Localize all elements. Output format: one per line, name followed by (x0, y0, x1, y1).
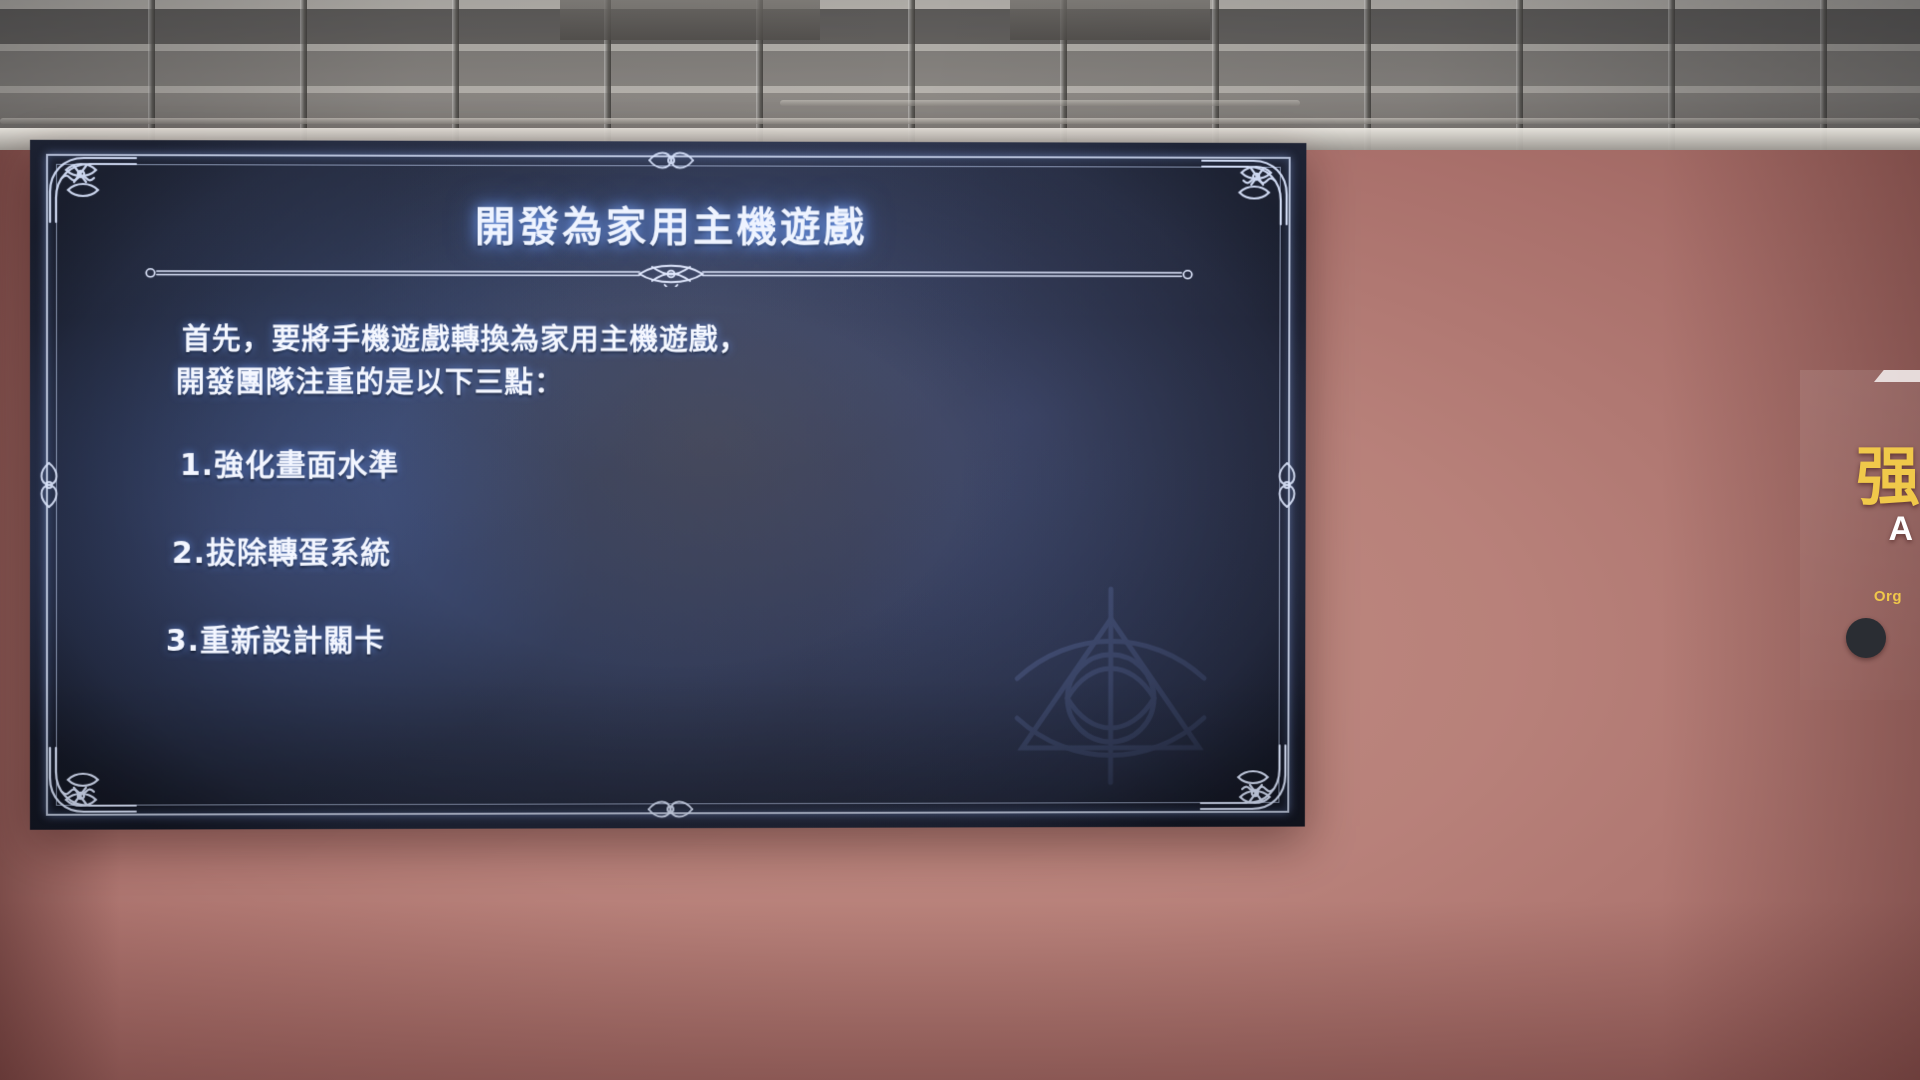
screenshot-root: 强 A Org (0, 0, 1920, 1080)
slide-point-2: 2.拔除轉蛋系統 (172, 528, 1188, 572)
intro-line-1: 首先，要將手機遊戲轉換為家用主機遊戲， (182, 318, 1178, 362)
slide-intro-paragraph: 首先，要將手機遊戲轉換為家用主機遊戲， 開發團隊注重的是以下三點： (182, 318, 1178, 404)
signage-triangle-icon (1874, 370, 1920, 382)
intro-line-2: 開發團隊注重的是以下三點： (176, 361, 1178, 404)
slide-title: 開發為家用主機遊戲 (30, 192, 1306, 254)
slide-points-list: 1.強化畫面水準 2.拔除轉蛋系統 3.重新設計關卡 (180, 440, 1188, 704)
slide-point-1: 1.強化畫面水準 (180, 440, 1188, 484)
signage-card: 强 A Org (1800, 370, 1920, 700)
slide-divider (142, 260, 1196, 288)
signage-logo-dot-icon (1846, 618, 1886, 658)
wall-shadow-bottom (0, 900, 1920, 1080)
side-signage: 强 A Org (1790, 370, 1920, 700)
signage-org-label: Org (1874, 588, 1902, 605)
projection-screen: 開發為家用主機遊戲 (30, 140, 1306, 830)
ceiling-structure (0, 0, 1920, 150)
signage-glyph: 强 (1856, 426, 1918, 518)
signage-subtext: A (1888, 510, 1914, 549)
slide-content: 開發為家用主機遊戲 (30, 140, 1306, 830)
slide-point-3: 3.重新設計關卡 (166, 615, 1188, 660)
